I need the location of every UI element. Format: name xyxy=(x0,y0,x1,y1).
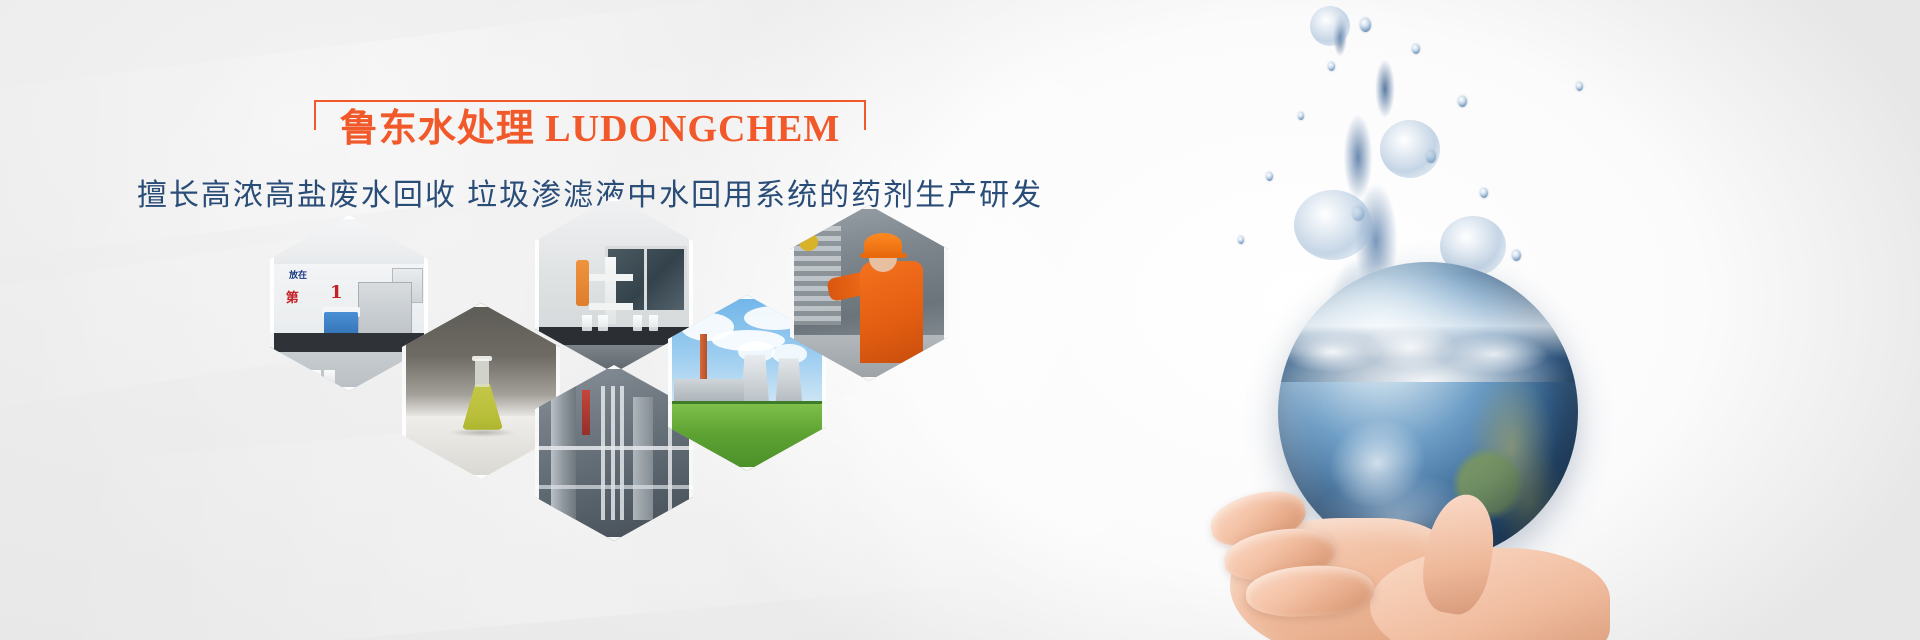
water-mist xyxy=(1380,120,1440,178)
water-mist xyxy=(1310,6,1350,46)
water-droplet xyxy=(1266,172,1273,181)
banner-subtitle: 擅长高浓高盐废水回收 垃圾渗滤液中水回用系统的药剂生产研发 xyxy=(0,170,1180,214)
water-droplet xyxy=(1576,82,1583,91)
water-droplet xyxy=(1458,96,1467,107)
bracket-right-tick xyxy=(864,100,866,130)
bracket-left-tick xyxy=(314,100,316,130)
brand-title-wrapper: 鲁东水处理 LUDONGCHEM xyxy=(314,100,867,156)
hex-lab-slogan-num: 1 xyxy=(330,282,343,303)
headline-block: 鲁东水处理 LUDONGCHEM 擅长高浓高盐废水回收 垃圾渗滤液中水回用系统的… xyxy=(0,100,1180,214)
water-globe-artwork xyxy=(1060,0,1920,640)
bracket-top-rule xyxy=(314,100,867,102)
water-droplet xyxy=(1328,62,1335,71)
water-droplet xyxy=(1298,112,1304,120)
hero-banner: 鲁东水处理 LUDONGCHEM 擅长高浓高盐废水回收 垃圾渗滤液中水回用系统的… xyxy=(0,0,1920,640)
brand-title: 鲁东水处理 LUDONGCHEM xyxy=(340,106,841,154)
water-droplet xyxy=(1238,236,1244,244)
hexagon-photo-cluster: 放在 第 1 xyxy=(230,215,990,535)
hands-holding-globe xyxy=(1190,398,1610,640)
water-droplet xyxy=(1480,188,1488,198)
hex-lab-slogan-mid: 第 xyxy=(286,287,299,306)
globe-foam xyxy=(1278,328,1578,376)
hex-lab-slogan-top: 放在 xyxy=(289,268,307,281)
water-droplet xyxy=(1360,18,1371,32)
water-droplet xyxy=(1412,44,1420,54)
